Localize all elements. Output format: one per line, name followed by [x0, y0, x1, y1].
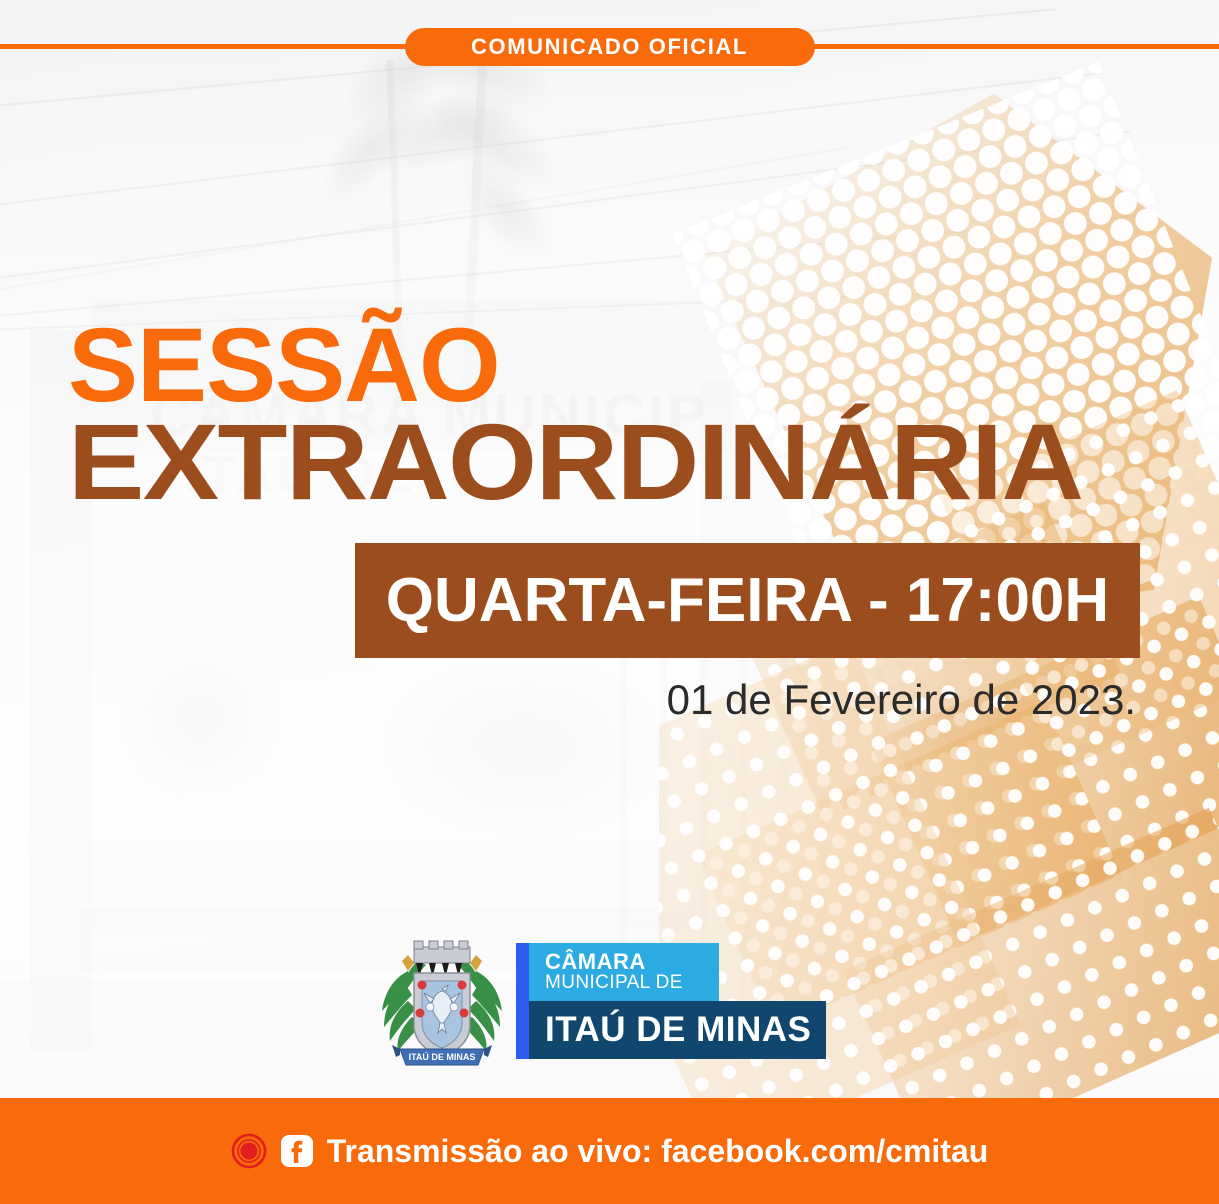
poster-canvas: CÂMARA MUNICIP ITAÚ DE [0, 0, 1219, 1204]
brand-line-municipal: MUNICIPAL DE [545, 973, 719, 994]
header-rule-right [794, 44, 1219, 49]
header-rule-left [0, 44, 425, 49]
footer-live-text: Transmissão ao vivo: facebook.com/cmitau [327, 1133, 989, 1170]
facebook-icon[interactable] [281, 1135, 313, 1167]
official-notice-label: COMUNICADO OFICIAL [471, 34, 748, 60]
brand-top-block: CÂMARA MUNICIPAL DE [529, 943, 719, 1001]
schedule-banner-label: QUARTA-FEIRA - 17:00H [386, 565, 1109, 636]
official-notice-badge: COMUNICADO OFICIAL [405, 28, 815, 66]
session-date: 01 de Fevereiro de 2023. [667, 676, 1136, 724]
headline-block: SESSÃO EXTRAORDINÁRIA [68, 318, 1025, 513]
brand-line-city: ITAÚ DE MINAS [545, 1010, 811, 1050]
logo-lockup: ITAÚ DE MINAS CÂMARA MUNICIPAL DE ITAÚ D… [378, 933, 826, 1068]
live-record-icon [231, 1133, 267, 1169]
crest-ribbon-text: ITAÚ DE MINAS [409, 1051, 476, 1062]
schedule-banner: QUARTA-FEIRA - 17:00H [355, 543, 1140, 658]
headline-line-2: EXTRAORDINÁRIA [68, 411, 1082, 514]
coat-of-arms-icon: ITAÚ DE MINAS [378, 933, 506, 1068]
brand-accent-bar [516, 943, 529, 1059]
footer-bar: Transmissão ao vivo: facebook.com/cmitau [0, 1098, 1219, 1204]
brand-blocks: CÂMARA MUNICIPAL DE ITAÚ DE MINAS [516, 943, 826, 1059]
brand-bottom-block: ITAÚ DE MINAS [529, 1001, 826, 1059]
brand-line-camara: CÂMARA [545, 951, 719, 973]
